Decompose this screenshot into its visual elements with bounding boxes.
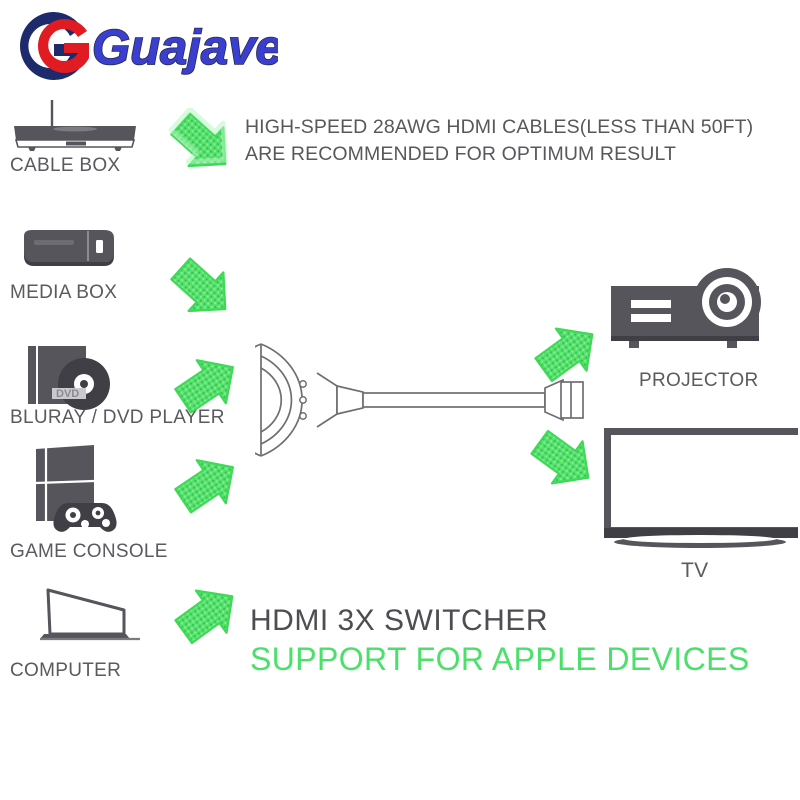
product-infographic: Guajave HIGH-SPEED 28AWG HDMI CABLES(LES… xyxy=(0,0,800,800)
cable-box-label: CABLE BOX xyxy=(10,155,120,177)
arrow-tv-icon xyxy=(524,424,604,496)
logo-wordmark: Guajave xyxy=(92,21,278,75)
media-box-icon xyxy=(18,228,118,270)
game-console-icon xyxy=(22,443,147,543)
headline-text: HIGH-SPEED 28AWG HDMI CABLES(LESS THAN 5… xyxy=(245,114,800,168)
projector-icon xyxy=(605,262,785,360)
svg-text:DVD: DVD xyxy=(56,388,79,400)
headline-line-2: ARE RECOMMENDED FOR OPTIMUM RESULT xyxy=(245,141,800,168)
game-console-label: GAME CONSOLE xyxy=(10,541,168,563)
headline-line-1: HIGH-SPEED 28AWG HDMI CABLES(LESS THAN 5… xyxy=(245,114,800,141)
arrow-bluray-icon xyxy=(168,348,248,420)
arrow-cable-box-icon xyxy=(163,108,243,180)
led-indicator-3 xyxy=(300,413,306,419)
arrow-computer-icon xyxy=(168,578,248,650)
led-indicator-1 xyxy=(300,381,306,387)
led-indicator-2 xyxy=(300,397,306,403)
arrow-projector-icon xyxy=(528,316,608,388)
cable-box-icon xyxy=(10,100,140,155)
bluray-dvd-player-icon: DVD xyxy=(22,342,132,414)
product-title: HDMI 3X SWITCHER xyxy=(250,604,548,638)
projector-label: PROJECTOR xyxy=(639,370,759,392)
computer-label: COMPUTER xyxy=(10,660,121,682)
tv-label: TV xyxy=(681,559,708,583)
arrow-media-box-icon xyxy=(163,253,243,325)
television-icon xyxy=(600,424,800,554)
product-subtitle: SUPPORT FOR APPLE DEVICES xyxy=(250,641,750,678)
media-box-label: MEDIA BOX xyxy=(10,282,117,304)
arrow-game-console-icon xyxy=(168,448,248,520)
brand-logo: Guajave xyxy=(8,6,278,86)
laptop-computer-icon xyxy=(14,584,144,648)
